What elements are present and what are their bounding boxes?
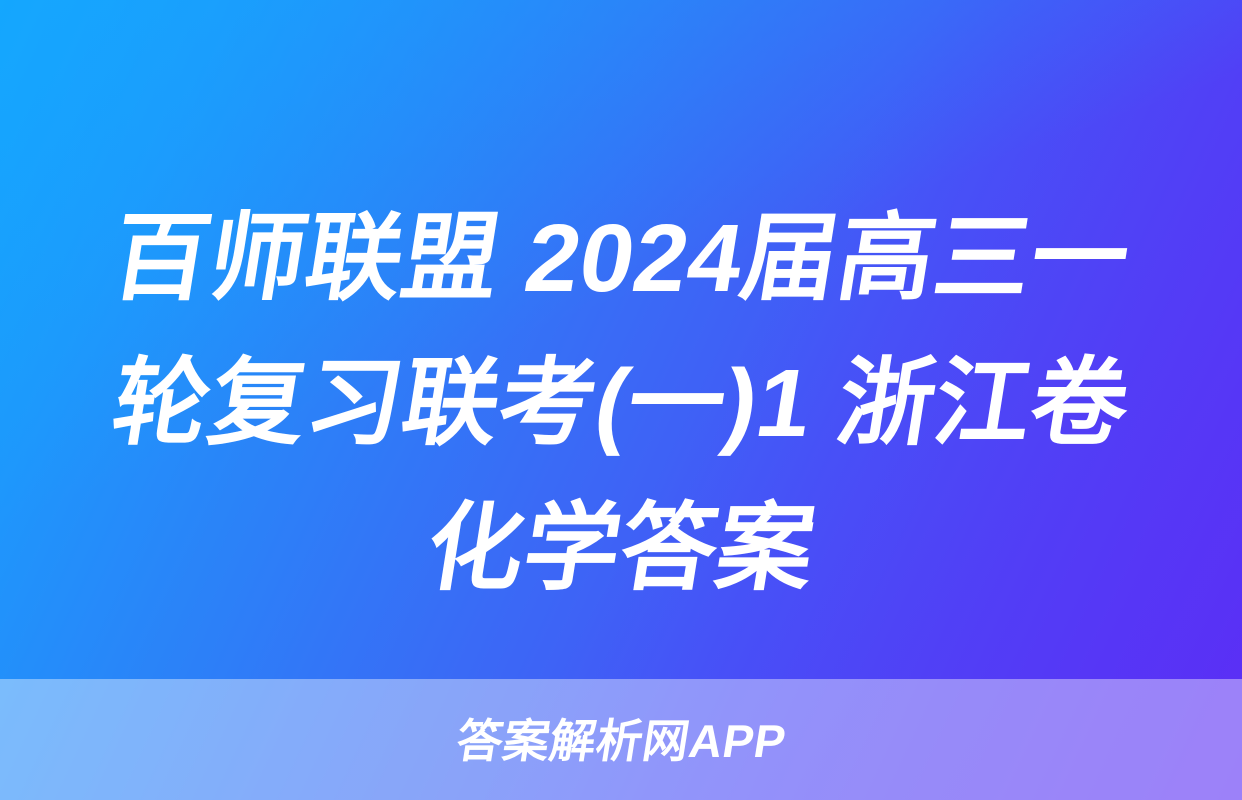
title-line-3: 化学答案: [49, 476, 1194, 621]
title-line-1: 百师联盟 2024届高三一: [49, 186, 1194, 331]
title-line-2: 轮复习联考(一)1 浙江卷: [49, 331, 1194, 476]
app-watermark-label: 答案解析网APP: [453, 716, 790, 766]
footer-banner: 答案解析网APP: [0, 679, 1242, 800]
page-title: 百师联盟 2024届高三一 轮复习联考(一)1 浙江卷 化学答案: [0, 186, 1242, 621]
poster-canvas: 百师联盟 2024届高三一 轮复习联考(一)1 浙江卷 化学答案 答案解析网AP…: [0, 0, 1242, 800]
